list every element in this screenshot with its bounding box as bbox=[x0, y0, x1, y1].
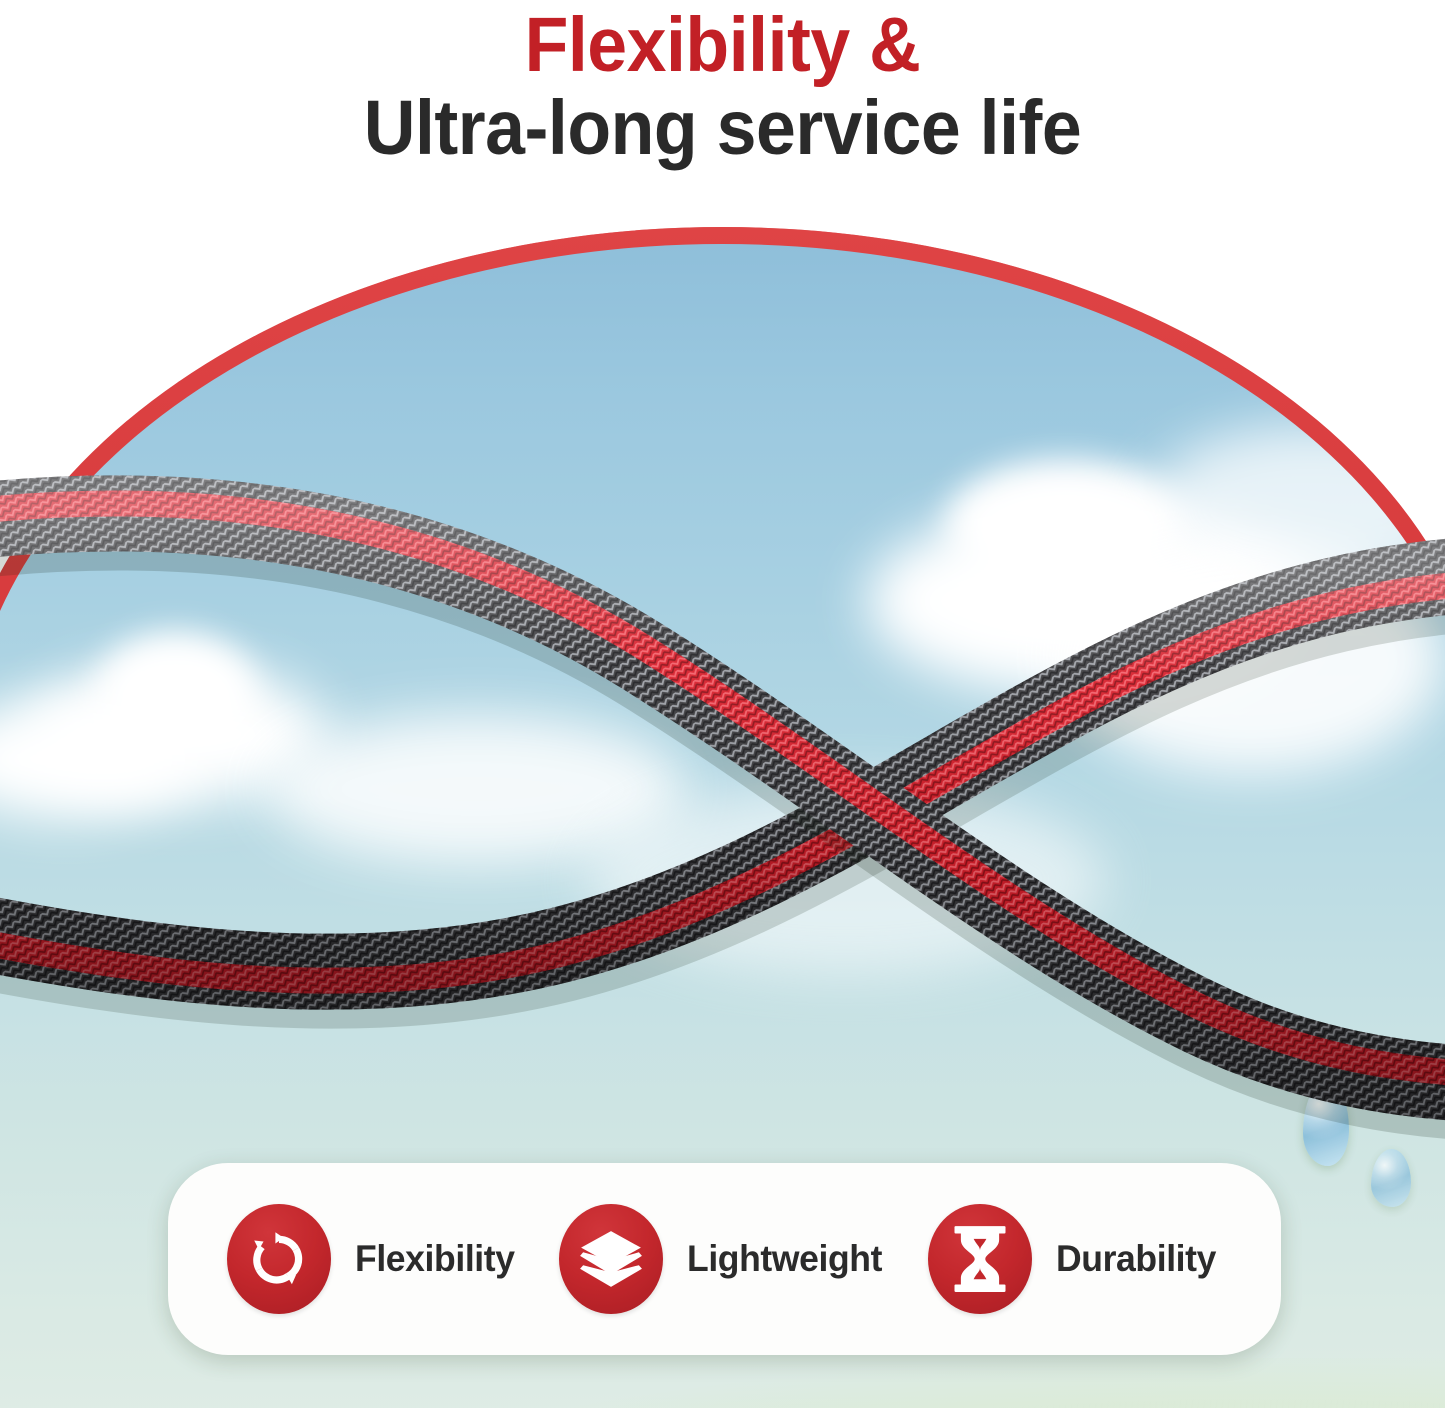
feature-label: Lightweight bbox=[687, 1238, 882, 1280]
headline-block: Flexibility & Ultra-long service life bbox=[0, 0, 1445, 167]
headline-line-1: Flexibility & bbox=[51, 6, 1395, 85]
feature-label: Durability bbox=[1056, 1238, 1216, 1280]
feature-item-durability[interactable]: Durability bbox=[928, 1204, 1223, 1314]
feature-badge-card: Flexibility Lightweight bbox=[168, 1163, 1281, 1355]
feature-item-lightweight[interactable]: Lightweight bbox=[559, 1204, 890, 1314]
hourglass-icon bbox=[928, 1204, 1032, 1314]
product-feature-banner: Flexibility & Ultra-long service life bbox=[0, 0, 1445, 1408]
feature-label: Flexibility bbox=[355, 1238, 515, 1280]
headline-line-2: Ultra-long service life bbox=[51, 89, 1395, 168]
feature-item-flexibility[interactable]: Flexibility bbox=[227, 1204, 521, 1314]
rotation-arrows-icon bbox=[227, 1204, 331, 1314]
hose-strand-back bbox=[0, 573, 1445, 988]
stacked-layers-icon bbox=[559, 1204, 663, 1314]
